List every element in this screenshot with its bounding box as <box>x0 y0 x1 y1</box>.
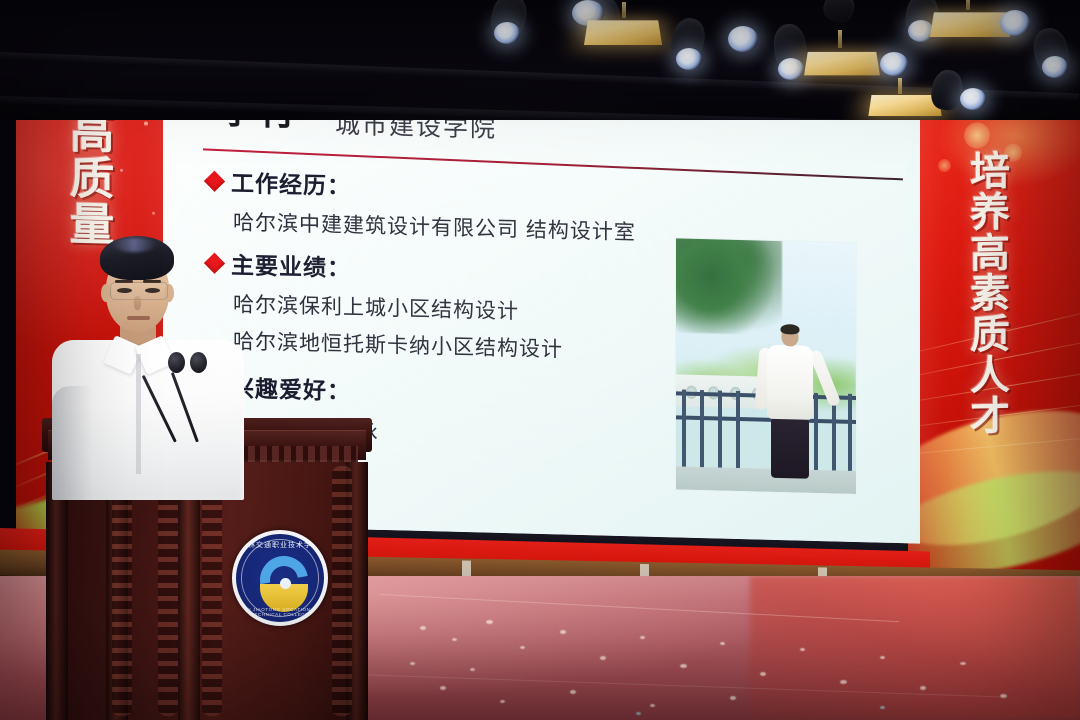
emblem-english-text: JILIN JIAOTONG VOCATIONAL & TECHNICAL CO… <box>236 607 324 617</box>
spotlight-white <box>960 88 986 110</box>
sparkle-dot <box>144 121 148 125</box>
warm-light-panel <box>930 12 1010 37</box>
bullet-row: 工作经历： <box>207 164 636 209</box>
led-banner-right: 培养高素质人才 <box>908 106 1080 580</box>
podium-carving <box>332 466 352 716</box>
banner-char: 培 <box>970 152 1010 194</box>
diamond-bullet-icon <box>204 170 225 191</box>
banner-char: 质 <box>69 155 114 202</box>
banner-char: 高 <box>970 233 1010 275</box>
banner-char: 才 <box>970 396 1010 438</box>
warm-light-panel <box>804 52 880 75</box>
section-line: 哈尔滨中建建筑设计有限公司 结构设计室 <box>233 206 636 246</box>
section-line: 哈尔滨保利上城小区结构设计 <box>233 288 563 326</box>
spotlight-white <box>494 22 520 44</box>
ceiling-lighting-rig <box>0 0 1080 120</box>
slide-section-achievements: 主要业绩： 哈尔滨保利上城小区结构设计 哈尔滨地恒托斯卡纳小区结构设计 <box>207 246 563 364</box>
spotlight-white <box>880 52 908 76</box>
section-heading: 主要业绩： <box>231 246 351 283</box>
bokeh-light <box>938 159 951 172</box>
spotlight-white <box>778 58 804 80</box>
slide-section-work-experience: 工作经历： 哈尔滨中建建筑设计有限公司 结构设计室 <box>207 164 636 247</box>
photo-person <box>759 326 821 483</box>
banner-char: 质 <box>970 315 1010 357</box>
stage-scene: 助推高质量 培养高素质人才 李行 城市建设学院 工作经历： <box>0 0 1080 720</box>
emblem-chinese-text: 吉林交通职业技术学院 <box>236 540 324 550</box>
podium-carving <box>112 466 132 716</box>
spotlight-white <box>1042 56 1068 78</box>
slide-portrait-photo <box>675 237 857 495</box>
college-emblem-icon: 吉林交通职业技术学院 JILIN JIAOTONG VOCATIONAL & T… <box>232 530 328 626</box>
podium-carving <box>202 466 222 716</box>
spotlight-white <box>1000 10 1030 36</box>
spotlight-white <box>676 48 702 70</box>
bullet-row: 主要业绩： <box>207 246 563 289</box>
section-line: 哈尔滨地恒托斯卡纳小区结构设计 <box>233 325 563 363</box>
warm-light-panel <box>584 20 662 45</box>
spotlight-housing <box>820 0 858 26</box>
banner-char: 养 <box>970 192 1010 234</box>
spotlight-housing <box>929 68 965 113</box>
microphone-right <box>188 352 278 438</box>
photo-tree-canopy <box>675 237 782 335</box>
banner-right-text: 培养高素质人才 <box>958 151 1022 438</box>
section-heading: 工作经历： <box>231 164 351 201</box>
spotlight-white <box>728 26 758 52</box>
sparkle-dot <box>152 212 155 215</box>
podium-carving <box>158 466 178 716</box>
bokeh-light <box>964 122 990 149</box>
banner-char: 人 <box>970 356 1010 398</box>
banner-char: 素 <box>970 274 1010 316</box>
